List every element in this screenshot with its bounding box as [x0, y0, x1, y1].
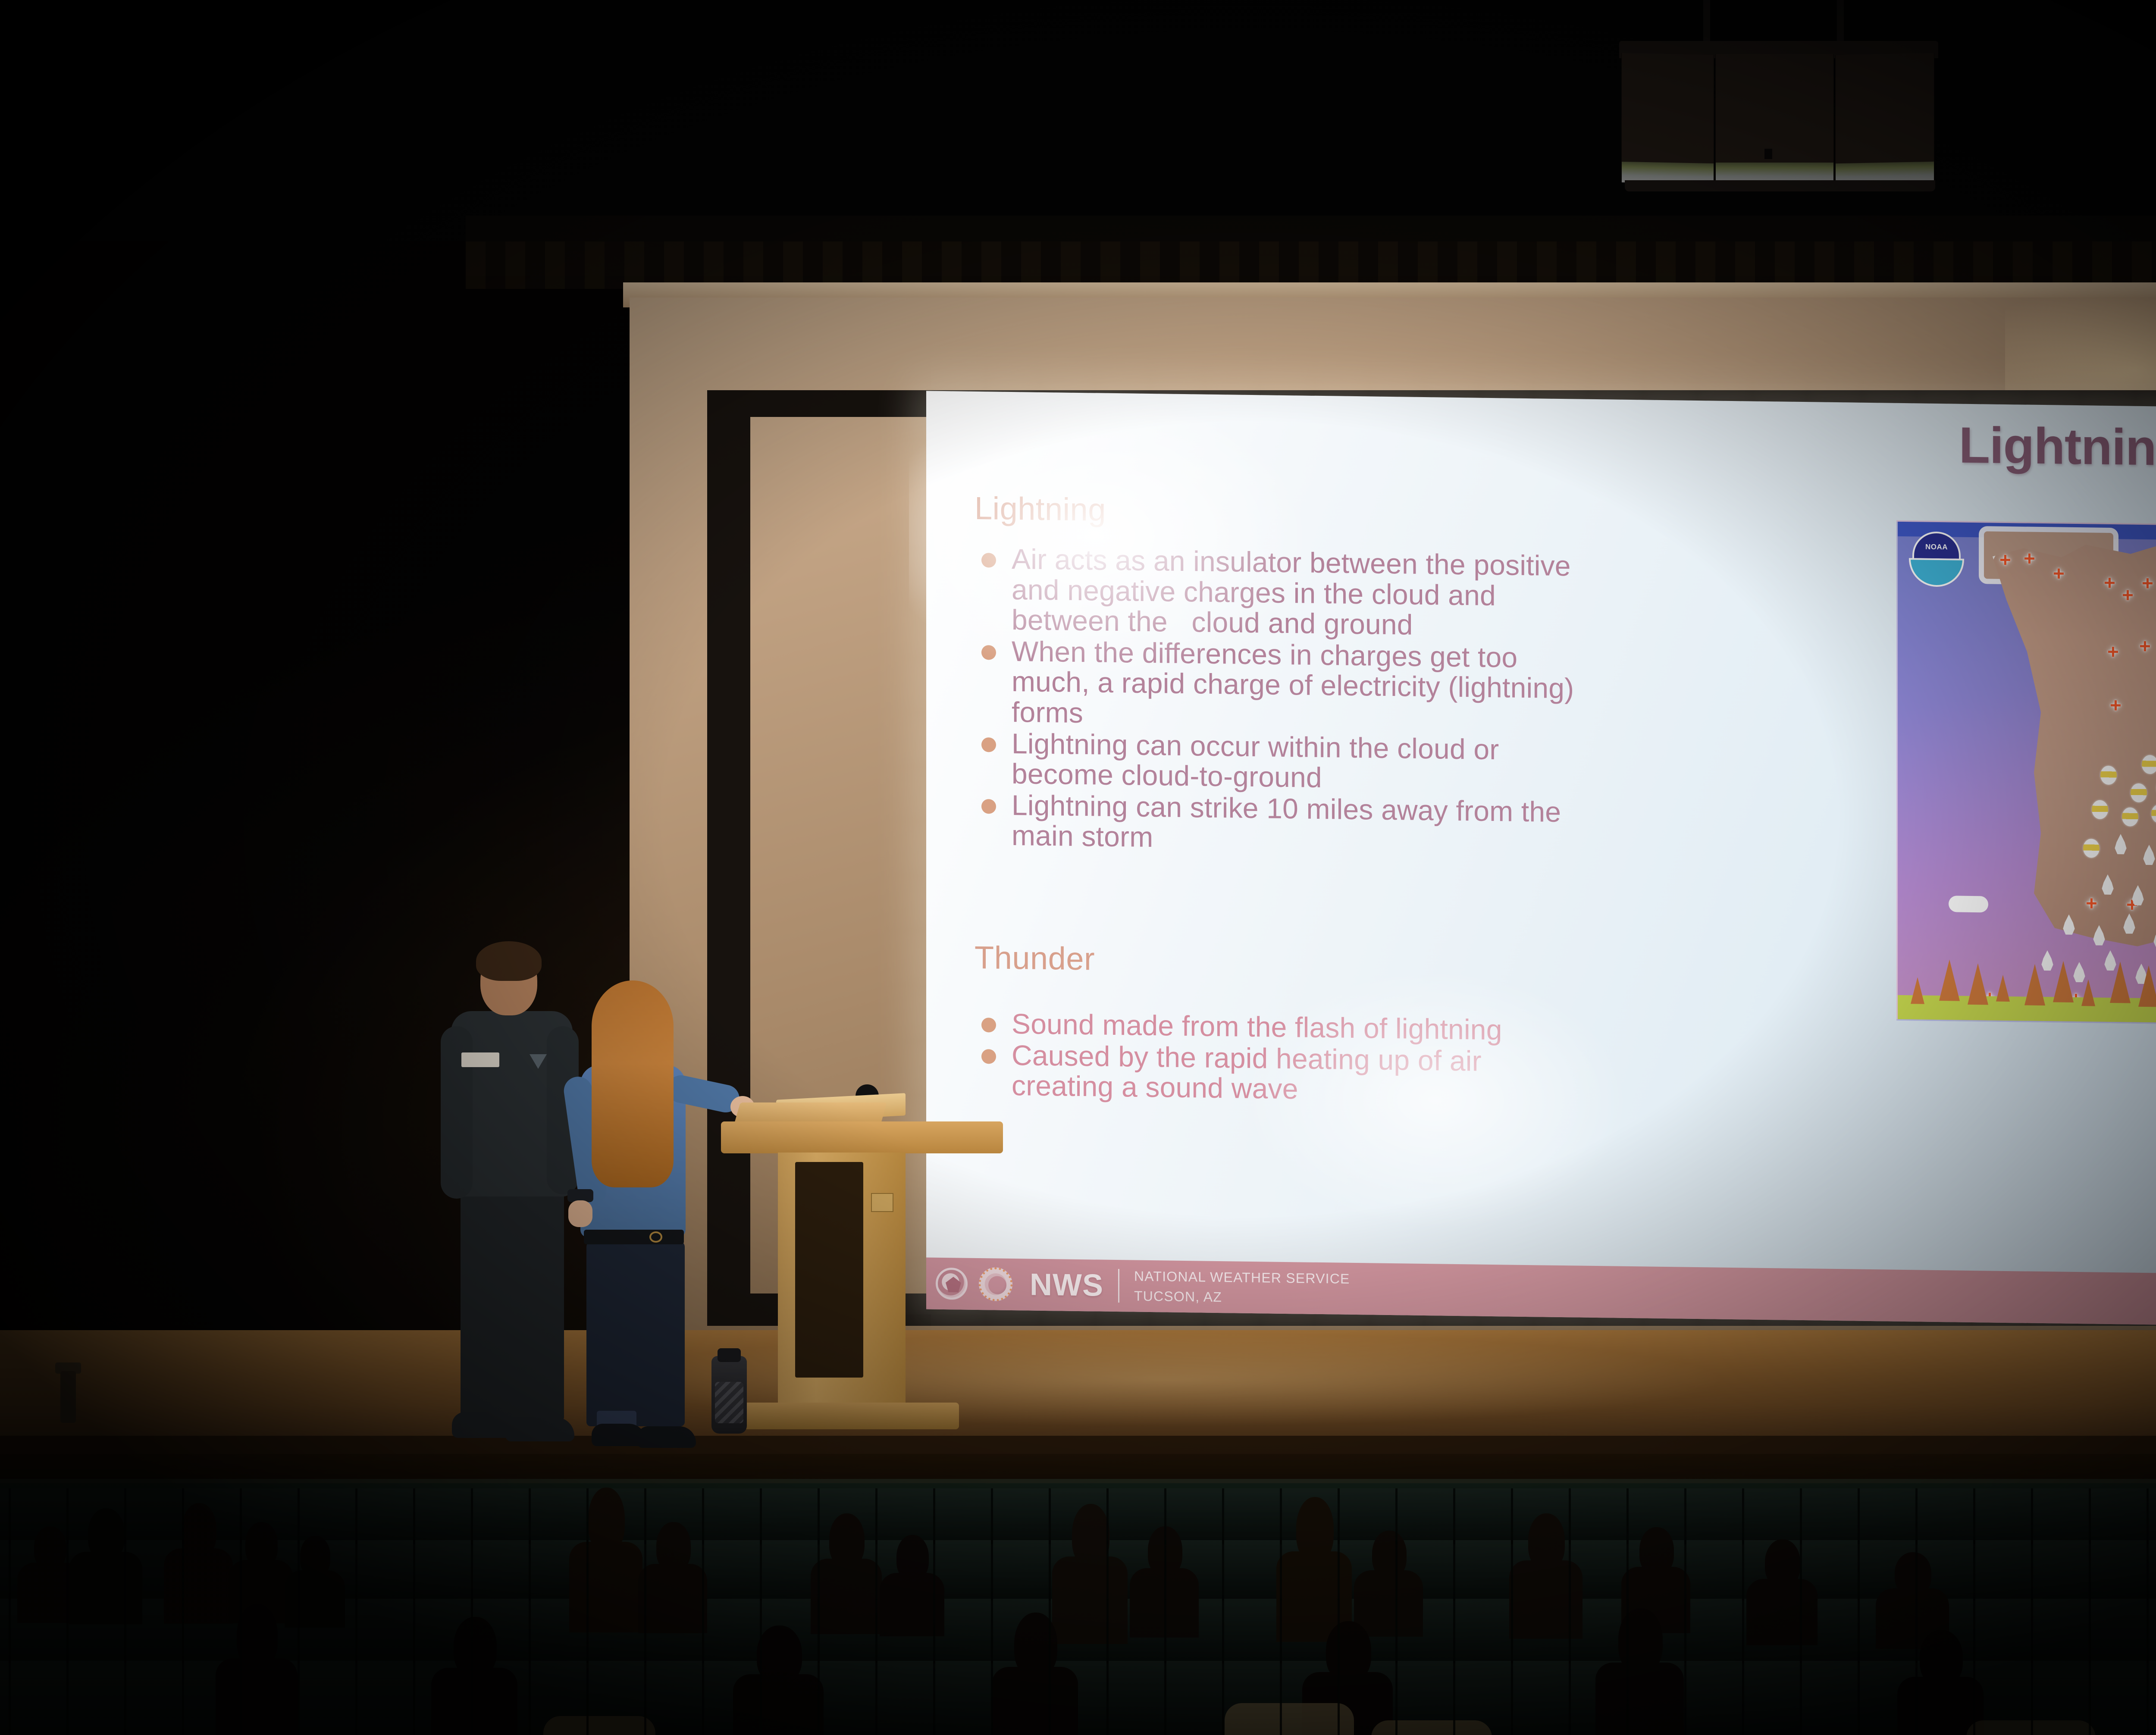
- seat-divider: [1049, 1540, 1051, 1600]
- seat-divider: [1453, 1599, 1455, 1663]
- list-item: Air acts as an insulator between the pos…: [969, 543, 1888, 646]
- seat-divider: [1915, 1540, 1918, 1600]
- seat-divider: [298, 1488, 300, 1544]
- seat-divider: [760, 1488, 762, 1544]
- seat-divider: [1453, 1661, 1455, 1735]
- tree-icon: [2081, 979, 2095, 1006]
- wooden-lectern: [721, 1084, 1003, 1434]
- audience-member-head: [588, 1488, 625, 1552]
- seat-divider: [1626, 1599, 1629, 1663]
- seat-divider: [1395, 1488, 1398, 1544]
- seat-divider: [644, 1488, 646, 1544]
- seat-divider: [702, 1599, 704, 1663]
- seat-divider: [182, 1540, 184, 1600]
- audience-member-body: [164, 1548, 233, 1624]
- presenter-left: [441, 946, 583, 1451]
- seat-divider: [875, 1540, 877, 1600]
- seat-divider: [1280, 1599, 1282, 1663]
- tree-icon: [1996, 975, 2010, 1002]
- name-badge: [461, 1052, 499, 1067]
- seat-divider: [1858, 1488, 1860, 1544]
- tree-icon: [2053, 961, 2074, 1002]
- list-item: Lightning can strike 10 miles away from …: [969, 789, 1888, 862]
- seat-divider: [1280, 1540, 1282, 1600]
- positive-charge-icon: +: [1999, 550, 2011, 570]
- audience-member-head: [34, 1526, 66, 1569]
- graupel-particle-icon: [2083, 839, 2100, 858]
- seat-divider: [182, 1488, 184, 1544]
- seat-divider: [66, 1661, 69, 1735]
- seat-divider: [529, 1488, 531, 1544]
- seat-divider: [991, 1488, 993, 1544]
- seat-divider: [1569, 1599, 1571, 1663]
- seat-divider: [875, 1599, 877, 1663]
- speaker-panel-center: [1715, 54, 1834, 183]
- positive-charge-icon: +: [2142, 573, 2153, 593]
- seat-divider: [818, 1540, 820, 1600]
- seat-divider: [1742, 1661, 1744, 1735]
- seat-divider: [1569, 1540, 1571, 1600]
- seat-divider: [644, 1540, 646, 1600]
- seat-divider: [9, 1661, 11, 1735]
- seat-divider: [933, 1599, 935, 1663]
- seat-divider: [1973, 1540, 1975, 1600]
- seat-divider: [586, 1540, 589, 1600]
- seat-divider: [586, 1599, 589, 1663]
- seat-divider: [2147, 1488, 2149, 1544]
- presenter-hair: [476, 941, 542, 981]
- seat-divider: [1973, 1599, 1975, 1663]
- seat-divider: [1280, 1488, 1282, 1544]
- seat-divider: [1395, 1661, 1398, 1735]
- seat-divider: [413, 1661, 415, 1735]
- audience-member-shoulders: [1371, 1720, 1492, 1735]
- seat-divider: [9, 1488, 11, 1544]
- nws-office-block: NATIONAL WEATHER SERVICE TUCSON, AZ: [1134, 1266, 1350, 1309]
- lectern-top: [721, 1121, 1003, 1153]
- seat-divider: [298, 1661, 300, 1735]
- graupel-particle-icon: [2122, 807, 2138, 826]
- presenter-shoe: [637, 1426, 696, 1448]
- nws-org-line1: NATIONAL WEATHER SERVICE: [1134, 1266, 1350, 1289]
- audience-member-shoulders: [1225, 1703, 1354, 1735]
- audience-member-head: [182, 1503, 216, 1557]
- nws-org-line2: TUCSON, AZ: [1134, 1286, 1350, 1309]
- seat-divider: [1858, 1599, 1860, 1663]
- list-item: When the differences in charges get too …: [969, 636, 1888, 739]
- seat-divider: [1684, 1540, 1686, 1600]
- auditorium-presentation-photo: Lightning/Thunder Lightning Air acts as …: [0, 0, 2156, 1735]
- seat-divider: [933, 1661, 935, 1735]
- seat-divider: [1106, 1599, 1109, 1663]
- audience-member-shoulders: [543, 1716, 655, 1735]
- seat-divider: [1626, 1661, 1629, 1735]
- seat-divider: [9, 1540, 11, 1600]
- seat-divider: [1453, 1488, 1455, 1544]
- seat-divider: [240, 1599, 242, 1663]
- seat-divider: [644, 1661, 646, 1735]
- seat-divider: [1164, 1540, 1166, 1600]
- seat-divider: [355, 1599, 357, 1663]
- seat-divider: [1511, 1599, 1513, 1663]
- bullet-text: When the differences in charges get too …: [1012, 636, 1574, 734]
- speaker-bottom-cap: [1625, 180, 1935, 191]
- tree-icon: [2138, 965, 2156, 1007]
- seat-divider: [124, 1540, 126, 1600]
- seat-divider: [1164, 1488, 1166, 1544]
- section-heading-lightning: Lightning: [975, 490, 1106, 528]
- audience-member-head: [300, 1536, 330, 1577]
- audience-member-head: [1326, 1621, 1371, 1682]
- seat-divider: [2089, 1540, 2091, 1600]
- speaker-panel-left: [1621, 53, 1714, 184]
- seat-divider: [355, 1540, 357, 1600]
- seat-divider: [1511, 1540, 1513, 1600]
- seat-divider: [1626, 1488, 1629, 1544]
- speaker-rigging-bar: [1703, 0, 1710, 47]
- water-bottle-cap: [718, 1348, 741, 1362]
- bullet-text: Lightning can occur within the cloud or …: [1012, 728, 1499, 795]
- seat-divider: [124, 1488, 126, 1544]
- tree-icon: [1968, 963, 1988, 1005]
- seat-divider: [298, 1540, 300, 1600]
- seat-divider: [1684, 1599, 1686, 1663]
- seat-divider: [1338, 1599, 1340, 1663]
- audience-member-head: [1072, 1504, 1110, 1566]
- seat-divider: [1511, 1661, 1513, 1735]
- presenter-right: [565, 987, 707, 1457]
- lectern-control-plate: [871, 1193, 893, 1212]
- seat-divider: [1684, 1488, 1686, 1544]
- seat-divider: [644, 1599, 646, 1663]
- audience-member-body: [285, 1570, 345, 1628]
- seat-divider: [1222, 1661, 1224, 1735]
- valance-pleats: [466, 241, 2156, 289]
- seat-divider: [2089, 1661, 2091, 1735]
- seat-divider: [1222, 1540, 1224, 1600]
- seat-divider: [586, 1488, 589, 1544]
- bullet-dot-icon: [981, 553, 996, 567]
- audience-member-head: [1895, 1552, 1931, 1595]
- audience-member-head: [656, 1522, 691, 1572]
- seat-divider: [529, 1599, 531, 1663]
- audience-member-body: [1595, 1663, 1684, 1735]
- seat-divider: [2089, 1488, 2091, 1544]
- bullet-list-thunder: Sound made from the flash of lightning C…: [969, 1008, 1888, 1113]
- seat-divider: [1973, 1661, 1975, 1735]
- seat-divider: [1222, 1599, 1224, 1663]
- seat-divider: [875, 1661, 877, 1735]
- fair-weather-cloud-icon: [1949, 896, 1988, 912]
- seat-divider: [2031, 1488, 2033, 1544]
- seat-divider: [1338, 1540, 1340, 1600]
- seat-divider: [991, 1540, 993, 1600]
- seat-divider: [9, 1599, 11, 1663]
- slide-title: Lightning/Thunder: [1959, 416, 2156, 480]
- audience-member-body: [1354, 1570, 1423, 1637]
- seat-divider: [1800, 1540, 1802, 1600]
- seat-divider: [818, 1599, 820, 1663]
- seat-divider: [124, 1599, 126, 1663]
- seat-divider: [1858, 1661, 1860, 1735]
- seat-divider: [1684, 1661, 1686, 1735]
- seat-divider: [529, 1540, 531, 1600]
- seat-divider: [240, 1488, 242, 1544]
- seat-divider: [240, 1661, 242, 1735]
- seat-divider: [1106, 1540, 1109, 1600]
- seat-divider: [298, 1599, 300, 1663]
- seat-divider: [413, 1540, 415, 1600]
- audience-member-head: [1765, 1539, 1801, 1587]
- tree-icon: [1939, 959, 1960, 1001]
- presenter-shoe: [505, 1417, 574, 1441]
- graupel-particle-icon: [2092, 800, 2108, 819]
- seat-divider: [760, 1661, 762, 1735]
- speaker-rigging-bar: [1837, 0, 1844, 47]
- positive-charge-icon: +: [2107, 642, 2119, 661]
- tree-icon: [2024, 964, 2045, 1006]
- seat-divider: [702, 1661, 704, 1735]
- noaa-logo-icon: NOAA: [1909, 531, 1964, 587]
- bullet-text: Caused by the rapid heating up of air cr…: [1012, 1040, 1482, 1107]
- seat-divider: [1915, 1599, 1918, 1663]
- seat-divider: [1511, 1488, 1513, 1544]
- noaa-logo-text: NOAA: [1909, 542, 1964, 552]
- belt-buckle: [649, 1231, 662, 1243]
- audience-member-body: [1746, 1579, 1818, 1645]
- bullet-text: Air acts as an insulator between the pos…: [1012, 544, 1571, 642]
- water-bottle-graphic: [715, 1382, 743, 1423]
- positive-charge-icon: +: [2104, 573, 2115, 592]
- thunderstorm-charge-diagram: NOAA +++++++++++++++++++++++++++++++++++…: [1896, 520, 2156, 1029]
- positive-charge-icon: +: [2086, 893, 2097, 913]
- seat-divider: [413, 1599, 415, 1663]
- seat-divider: [1915, 1488, 1918, 1544]
- audience-member-body: [69, 1552, 142, 1624]
- seat-divider: [2089, 1599, 2091, 1663]
- seat-divider: [2147, 1540, 2149, 1600]
- seat-divider: [471, 1488, 473, 1544]
- seat-divider: [933, 1540, 935, 1600]
- graupel-particle-icon: [2131, 783, 2147, 802]
- audience-member-head: [1528, 1513, 1565, 1569]
- seat-divider: [355, 1661, 357, 1735]
- seat-divider: [1800, 1661, 1802, 1735]
- tree-icon: [2110, 961, 2131, 1003]
- seat-divider: [471, 1540, 473, 1600]
- audience-member-head: [454, 1617, 497, 1677]
- seat-divider: [1395, 1540, 1398, 1600]
- seat-divider: [991, 1599, 993, 1663]
- seat-divider: [1106, 1661, 1109, 1735]
- seat-divider: [1742, 1488, 1744, 1544]
- audience-member-body: [216, 1658, 298, 1735]
- seat-divider: [991, 1661, 993, 1735]
- audience-member-body: [638, 1564, 707, 1633]
- bullet-dot-icon: [981, 645, 996, 660]
- presenter-belt: [584, 1230, 684, 1244]
- audience-member-head: [1920, 1630, 1963, 1686]
- seat-divider: [702, 1540, 704, 1600]
- positive-charge-icon: +: [2122, 585, 2134, 604]
- seat-divider: [240, 1540, 242, 1600]
- seat-divider: [2147, 1661, 2149, 1735]
- audience-member-head: [237, 1604, 278, 1669]
- seat-divider: [124, 1661, 126, 1735]
- seat-divider: [818, 1661, 820, 1735]
- positive-charge-icon: +: [2110, 695, 2122, 715]
- seat-divider: [413, 1488, 415, 1544]
- seat-divider: [1569, 1488, 1571, 1544]
- seat-divider: [529, 1661, 531, 1735]
- list-item: Caused by the rapid heating up of air cr…: [969, 1039, 1888, 1112]
- audience-member-head: [1618, 1608, 1663, 1673]
- seat-divider: [1858, 1540, 1860, 1600]
- seat-divider: [1338, 1488, 1340, 1544]
- seat-divider: [760, 1599, 762, 1663]
- presenter-legs: [461, 1188, 564, 1421]
- seat-divider: [66, 1599, 69, 1663]
- audience-member-head: [245, 1522, 278, 1567]
- seat-divider: [355, 1488, 357, 1544]
- positive-charge-icon: +: [2139, 636, 2151, 656]
- stage-prop: [60, 1371, 76, 1423]
- hanging-line-array-speaker: [1595, 0, 1962, 216]
- list-item: Lightning can occur within the cloud or …: [969, 727, 1888, 800]
- seat-divider: [2031, 1599, 2033, 1663]
- seat-divider: [1280, 1661, 1282, 1735]
- seat-divider: [66, 1540, 69, 1600]
- lectern-base: [739, 1403, 959, 1429]
- seat-divider: [182, 1599, 184, 1663]
- seat-divider: [1049, 1661, 1051, 1735]
- seat-divider: [933, 1488, 935, 1544]
- seat-divider: [1569, 1661, 1571, 1735]
- positive-charge-icon: +: [2053, 563, 2065, 583]
- lectern-front-panel: [795, 1162, 863, 1378]
- seat-divider: [1742, 1540, 1744, 1600]
- seat-divider: [1626, 1540, 1629, 1600]
- stage-edge-trim: [0, 1436, 2156, 1456]
- audience-member-head: [829, 1513, 865, 1567]
- seat-divider: [2031, 1661, 2033, 1735]
- audience-member-body: [569, 1542, 642, 1632]
- graupel-particle-icon: [2100, 766, 2117, 785]
- seat-divider: [1106, 1488, 1109, 1544]
- audience-member-body: [811, 1559, 882, 1634]
- stage-rail: [0, 1479, 2156, 1483]
- audience-member-body: [431, 1668, 517, 1735]
- presenter-hand: [568, 1200, 592, 1227]
- speaker-panel-right: [1835, 53, 1934, 184]
- presenter-hair: [592, 980, 674, 1187]
- seat-divider: [1742, 1599, 1744, 1663]
- seat-divider: [1973, 1488, 1975, 1544]
- seat-divider: [1222, 1488, 1224, 1544]
- bullet-list-lightning: Air acts as an insulator between the pos…: [969, 543, 1888, 863]
- bullet-dot-icon: [981, 1018, 996, 1032]
- bullet-dot-icon: [981, 1049, 996, 1064]
- audience-member-head: [1014, 1613, 1057, 1677]
- seat-divider: [2031, 1540, 2033, 1600]
- bullet-dot-icon: [981, 737, 996, 752]
- audience-member-body: [1509, 1560, 1583, 1639]
- seat-divider: [1915, 1661, 1918, 1735]
- graupel-particle-icon: [2142, 755, 2156, 774]
- seat-divider: [1800, 1488, 1802, 1544]
- seat-divider: [66, 1488, 69, 1544]
- seat-divider: [760, 1540, 762, 1600]
- audience-member-head: [1639, 1527, 1674, 1575]
- section-heading-thunder: Thunder: [975, 939, 1095, 977]
- tree-icon: [1911, 977, 1924, 1004]
- seat-divider: [1049, 1599, 1051, 1663]
- audience-member-head: [88, 1508, 125, 1560]
- bullet-dot-icon: [981, 799, 996, 814]
- footer-divider: [1118, 1269, 1119, 1303]
- audience-member-head: [1296, 1497, 1334, 1562]
- seat-divider: [1453, 1540, 1455, 1600]
- seat-row: [0, 1661, 2156, 1735]
- seat-divider: [471, 1599, 473, 1663]
- audience-member-head: [1372, 1531, 1407, 1578]
- presenter-jeans: [586, 1241, 685, 1426]
- seat-divider: [182, 1661, 184, 1735]
- bullet-text: Lightning can strike 10 miles away from …: [1012, 790, 1561, 858]
- seat-divider: [1800, 1599, 1802, 1663]
- seat-divider: [1338, 1661, 1340, 1735]
- positive-charge-icon: +: [2024, 548, 2035, 568]
- seat-divider: [471, 1661, 473, 1735]
- audience-member-head: [757, 1625, 802, 1684]
- seat-divider: [1164, 1661, 1166, 1735]
- seat-divider: [586, 1661, 589, 1735]
- seat-divider: [818, 1488, 820, 1544]
- audience-area: [0, 1462, 2156, 1735]
- speaker-indicator: [1764, 149, 1772, 159]
- projected-slide: Lightning/Thunder Lightning Air acts as …: [926, 391, 2156, 1329]
- seat-divider: [875, 1488, 877, 1544]
- seat-divider: [2147, 1599, 2149, 1663]
- seat-divider: [1395, 1599, 1398, 1663]
- nws-brand-text: NWS: [1030, 1267, 1103, 1303]
- seat-divider: [702, 1488, 704, 1544]
- seat-divider: [1164, 1599, 1166, 1663]
- audience-member-body: [1052, 1556, 1128, 1644]
- audience-member-head: [896, 1535, 929, 1580]
- presenter-arm: [441, 1026, 473, 1199]
- seat-divider: [1049, 1488, 1051, 1544]
